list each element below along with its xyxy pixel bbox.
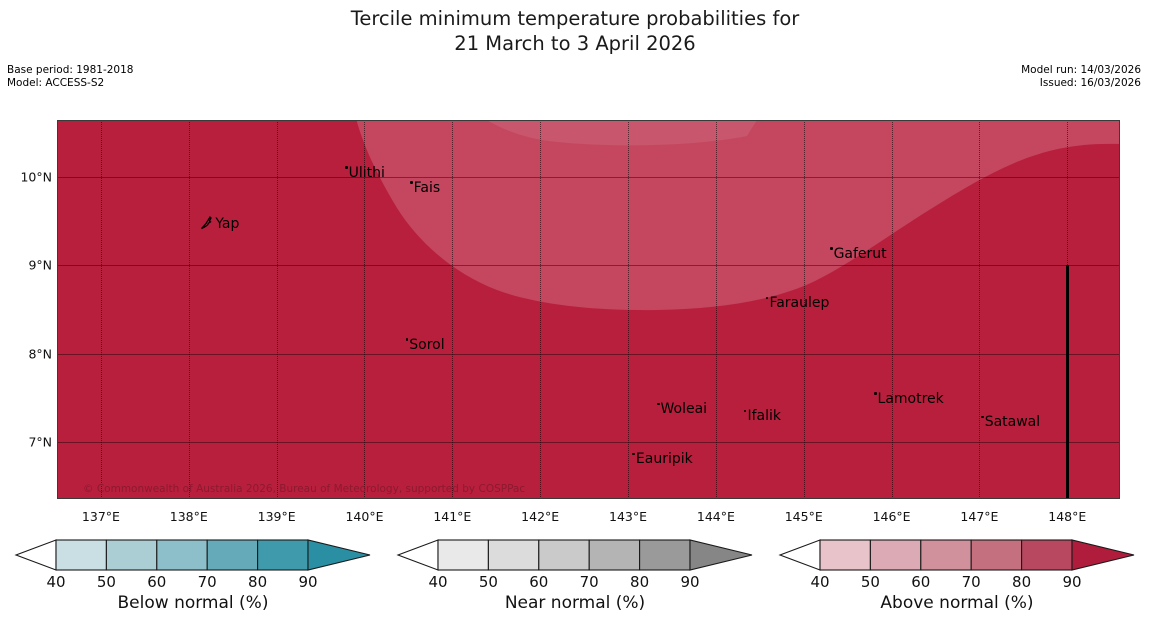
issued-text: Issued: 16/03/2026 xyxy=(1021,77,1141,90)
x-tick-141: 141°E xyxy=(433,509,471,524)
map-background xyxy=(57,120,1120,499)
colorbar-tick-80: 80 xyxy=(630,573,649,591)
colorbar-tick-90: 90 xyxy=(680,573,699,591)
page-title: Tercile minimum temperature probabilitie… xyxy=(0,6,1150,56)
forecast-map-page: Tercile minimum temperature probabilitie… xyxy=(0,0,1150,644)
colorbar-tick-50: 50 xyxy=(97,573,116,591)
colorbar-near-normal[interactable]: 405060708090Near normal (%) xyxy=(390,538,760,638)
colorbar-segment-50 xyxy=(488,540,538,570)
colorbar-tick-60: 60 xyxy=(911,573,930,591)
colorbar-segment-70 xyxy=(207,540,257,570)
colorbar-segment-50 xyxy=(870,540,920,570)
colorbar-over-range-arrow xyxy=(1072,540,1134,570)
colorbar-segment-80 xyxy=(258,540,308,570)
base-period-text: Base period: 1981-2018 xyxy=(7,64,133,77)
colorbar-tick-40: 40 xyxy=(810,573,829,591)
colorbar-tick-90: 90 xyxy=(298,573,317,591)
title-line-2: 21 March to 3 April 2026 xyxy=(0,31,1150,56)
colorbar-swatches xyxy=(772,538,1142,578)
colorbar-tick-90: 90 xyxy=(1062,573,1081,591)
colorbar-title-above-normal: Above normal (%) xyxy=(772,593,1142,613)
place-label-woleai: Woleai xyxy=(657,402,707,416)
colorbar-tick-70: 70 xyxy=(962,573,981,591)
model-run-text: Model run: 14/03/2026 xyxy=(1021,64,1141,77)
copyright-text: © Commonwealth of Australia 2026, Bureau… xyxy=(83,483,525,495)
place-label-lamotrek: Lamotrek xyxy=(874,392,944,406)
place-marker-dot xyxy=(830,247,833,250)
metadata-left: Base period: 1981-2018 Model: ACCESS-S2 xyxy=(7,64,133,90)
colorbar-tick-labels: 405060708090 xyxy=(8,573,378,593)
place-name-text: Eauripik xyxy=(636,451,693,467)
x-tick-146: 146°E xyxy=(873,509,911,524)
place-name-text: Lamotrek xyxy=(878,391,944,407)
colorbar-segment-70 xyxy=(589,540,639,570)
place-name-text: Yap xyxy=(215,216,239,232)
colorbar-segment-80 xyxy=(1022,540,1072,570)
colorbar-segment-60 xyxy=(921,540,971,570)
x-tick-138: 138°E xyxy=(170,509,208,524)
colorbar-tick-60: 60 xyxy=(147,573,166,591)
colorbar-tick-40: 40 xyxy=(46,573,65,591)
place-label-ifalik: Ifalik xyxy=(744,409,781,423)
colorbar-swatches xyxy=(8,538,378,578)
x-tick-142: 142°E xyxy=(521,509,559,524)
x-tick-143: 143°E xyxy=(609,509,647,524)
colorbar-segment-60 xyxy=(539,540,589,570)
place-label-satawal: Satawal xyxy=(981,415,1040,429)
place-name-text: Sorol xyxy=(409,337,444,353)
model-text: Model: ACCESS-S2 xyxy=(7,77,133,90)
colorbar-under-range-arrow xyxy=(398,540,438,570)
place-label-fais: Fais xyxy=(410,181,440,195)
place-marker-dot xyxy=(406,338,409,341)
colorbar-over-range-arrow xyxy=(690,540,752,570)
colorbar-tick-80: 80 xyxy=(1012,573,1031,591)
colorbar-under-range-arrow xyxy=(780,540,820,570)
place-label-faraulep: Faraulep xyxy=(766,296,829,310)
place-name-text: Ulithi xyxy=(349,165,385,181)
x-tick-137: 137°E xyxy=(82,509,120,524)
colorbar-tick-50: 50 xyxy=(479,573,498,591)
colorbar-segment-40 xyxy=(820,540,870,570)
colorbar-above-normal[interactable]: 405060708090Above normal (%) xyxy=(772,538,1142,638)
place-name-text: Woleai xyxy=(661,401,708,417)
maritime-boundary-line xyxy=(1066,265,1069,499)
colorbar-segment-80 xyxy=(640,540,690,570)
place-label-eauripik: Eauripik xyxy=(632,452,692,466)
y-tick-10: 10°N xyxy=(20,170,52,185)
place-name-text: Ifalik xyxy=(747,408,781,424)
place-name-text: Faraulep xyxy=(769,295,829,311)
x-tick-147: 147°E xyxy=(960,509,998,524)
colorbar-segment-70 xyxy=(971,540,1021,570)
place-marker-dot xyxy=(410,181,413,184)
place-name-text: Fais xyxy=(414,180,441,196)
colorbar-segment-40 xyxy=(56,540,106,570)
place-marker-dot xyxy=(345,166,348,169)
colorbar-title-near-normal: Near normal (%) xyxy=(390,593,760,613)
colorbar-below-normal[interactable]: 405060708090Below normal (%) xyxy=(8,538,378,638)
x-tick-139: 139°E xyxy=(258,509,296,524)
place-marker-dot xyxy=(657,403,660,406)
colorbar-title-below-normal: Below normal (%) xyxy=(8,593,378,613)
probability-contour-layer xyxy=(57,120,1120,499)
map-panel[interactable]: YapUlithiFaisSorolGaferutFaraulepWoleaiI… xyxy=(57,120,1120,499)
place-marker-dot xyxy=(632,453,635,456)
metadata-right: Model run: 14/03/2026 Issued: 16/03/2026 xyxy=(1021,64,1141,90)
place-marker-dot xyxy=(981,416,984,419)
place-name-text: Gaferut xyxy=(834,246,887,262)
colorbar-tick-labels: 405060708090 xyxy=(390,573,760,593)
colorbar-tick-50: 50 xyxy=(861,573,880,591)
colorbar-segment-40 xyxy=(438,540,488,570)
island-shape-icon xyxy=(199,215,215,231)
place-label-yap: Yap xyxy=(199,212,239,231)
title-line-1: Tercile minimum temperature probabilitie… xyxy=(351,7,800,30)
colorbar-tick-40: 40 xyxy=(428,573,447,591)
place-label-sorol: Sorol xyxy=(406,338,445,352)
place-label-gaferut: Gaferut xyxy=(830,247,887,261)
y-tick-8: 8°N xyxy=(28,346,52,361)
x-tick-140: 140°E xyxy=(345,509,383,524)
x-tick-148: 148°E xyxy=(1048,509,1086,524)
place-name-text: Satawal xyxy=(985,414,1040,430)
place-marker-dot xyxy=(874,392,877,395)
colorbar-tick-80: 80 xyxy=(248,573,267,591)
colorbar-segment-60 xyxy=(157,540,207,570)
x-tick-144: 144°E xyxy=(697,509,735,524)
y-tick-7: 7°N xyxy=(28,434,52,449)
colorbar-tick-60: 60 xyxy=(529,573,548,591)
colorbar-tick-70: 70 xyxy=(198,573,217,591)
colorbar-over-range-arrow xyxy=(308,540,370,570)
place-label-ulithi: Ulithi xyxy=(345,166,385,180)
x-tick-145: 145°E xyxy=(785,509,823,524)
colorbar-tick-70: 70 xyxy=(580,573,599,591)
colorbar-tick-labels: 405060708090 xyxy=(772,573,1142,593)
colorbar-swatches xyxy=(390,538,760,578)
colorbar-under-range-arrow xyxy=(16,540,56,570)
y-tick-9: 9°N xyxy=(28,258,52,273)
colorbar-segment-50 xyxy=(106,540,156,570)
